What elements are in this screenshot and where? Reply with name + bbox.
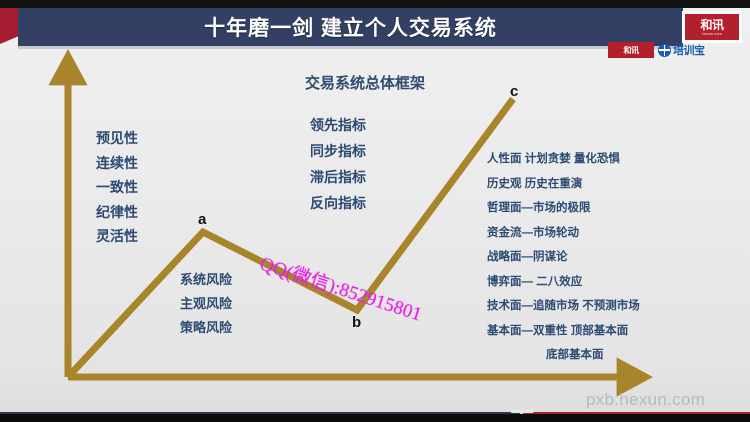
list-item: 资金流—市场轮动 (487, 221, 640, 246)
bottom-black-band (0, 414, 750, 422)
list-item: 技术面—追随市场 不预测市场 (487, 294, 640, 319)
sublogo-hexun: 和讯 (608, 42, 654, 58)
list-item: 滞后指标 (310, 164, 366, 190)
chart-point-label-c: c (510, 83, 518, 100)
list-item: 一致性 (96, 175, 138, 200)
dimension-list: 人性面 计划贪婪 量化恐惧 历史观 历史在重演 哲理面—市场的极限 资金流—市场… (487, 147, 640, 368)
list-item: 同步指标 (310, 138, 366, 164)
chart-point-label-a: a (198, 211, 206, 228)
list-item: 基本面—双重性 顶部基本面 (487, 319, 640, 344)
sublogo-pxb: 培训宝 (658, 42, 705, 58)
sub-logo-row: 和讯 培训宝 (608, 40, 720, 60)
list-item: 连续性 (96, 151, 138, 176)
sublogo-pxb-label: 培训宝 (673, 42, 705, 58)
list-item: 底部基本面 (487, 343, 640, 368)
risk-list: 系统风险 主观风险 策略风险 (180, 268, 232, 340)
list-item: 反向指标 (310, 190, 366, 216)
framework-title: 交易系统总体框架 (305, 72, 425, 93)
list-item: 纪律性 (96, 200, 138, 225)
left-quality-list: 预见性 连续性 一致性 纪律性 灵活性 (96, 126, 138, 249)
list-item: 人性面 计划贪婪 量化恐惧 (487, 147, 640, 172)
list-item: 领先指标 (310, 112, 366, 138)
globe-icon (658, 44, 671, 57)
list-item: 系统风险 (180, 268, 232, 292)
bottom-rule-notch (511, 409, 535, 413)
top-black-band (0, 0, 750, 8)
list-item-label: 底部基本面 (487, 343, 604, 368)
chart-point-label-b: b (352, 314, 361, 331)
list-item: 预见性 (96, 126, 138, 151)
list-item: 灵活性 (96, 224, 138, 249)
hexun-logo-domain: hexun.com (702, 32, 722, 36)
slide-canvas: 十年磨一剑 建立个人交易系统 和讯 hexun.com 和讯 培训宝 a b (0, 0, 750, 422)
hexun-logo: 和讯 hexun.com (682, 11, 742, 43)
page-title: 十年磨一剑 建立个人交易系统 (18, 8, 683, 46)
list-item: 哲理面—市场的极限 (487, 196, 640, 221)
indicator-list: 领先指标 同步指标 滞后指标 反向指标 (310, 112, 366, 216)
list-item: 主观风险 (180, 292, 232, 316)
list-item: 历史观 历史在重演 (487, 172, 640, 197)
hexun-logo-text: 和讯 (700, 19, 723, 31)
list-item: 策略风险 (180, 316, 232, 340)
list-item: 博弈面— 二八效应 (487, 270, 640, 295)
site-watermark: pxb.hexun.com (586, 390, 705, 410)
hexun-logo-box: 和讯 hexun.com (685, 14, 739, 40)
list-item: 战略面—阴谋论 (487, 245, 640, 270)
